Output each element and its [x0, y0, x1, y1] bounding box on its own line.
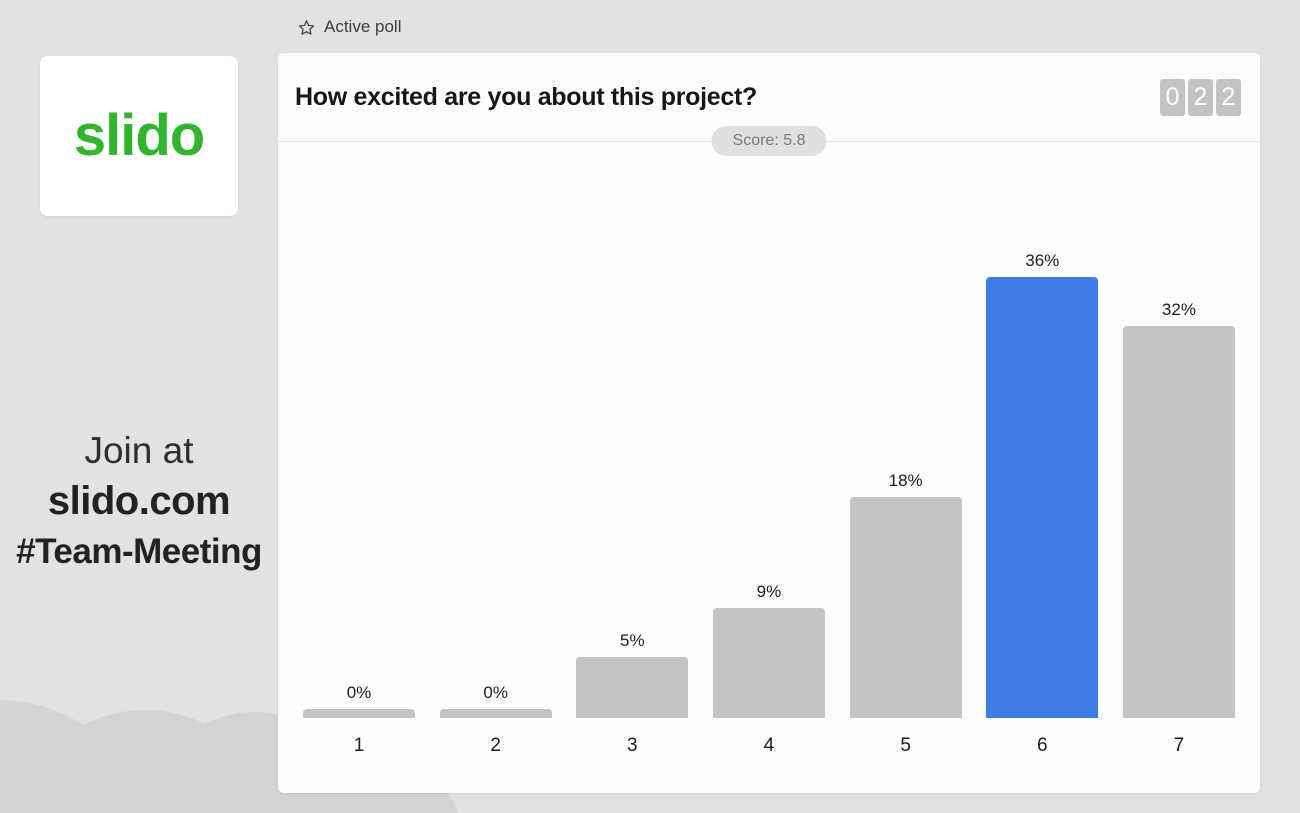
bar-rect: [576, 657, 688, 718]
bar-rect: [713, 608, 825, 718]
bar-column: 0%: [303, 252, 415, 718]
counter-digit: 2: [1188, 79, 1213, 116]
bar-column: 36%: [986, 252, 1098, 718]
x-axis-labels: 1 2 3 4 5 6 7: [303, 735, 1235, 757]
active-poll-status: Active poll: [298, 17, 401, 37]
bar-column: 5%: [576, 252, 688, 718]
bar-rect: [850, 497, 962, 718]
slido-logo-text: slido: [74, 107, 204, 165]
bar-value-label: 18%: [889, 472, 923, 489]
join-domain-label: slido.com: [0, 474, 278, 528]
star-outline-icon: [298, 19, 315, 36]
counter-digit: 2: [1216, 79, 1241, 116]
poll-chart: 0% 0% 5% 9% 18% 36%: [278, 142, 1260, 793]
sidebar: slido Join at slido.com #Team-Meeting: [0, 0, 278, 813]
join-prefix-label: Join at: [0, 428, 278, 474]
x-axis-tick: 6: [986, 735, 1098, 757]
x-axis-tick: 4: [713, 735, 825, 757]
x-axis-tick: 2: [440, 735, 552, 757]
join-instructions: Join at slido.com #Team-Meeting: [0, 428, 278, 576]
poll-title: How excited are you about this project?: [295, 83, 757, 112]
bar-value-label: 32%: [1162, 301, 1196, 318]
x-axis-tick: 3: [576, 735, 688, 757]
bar-column: 18%: [850, 252, 962, 718]
poll-card: How excited are you about this project? …: [278, 53, 1260, 793]
x-axis-tick: 7: [1123, 735, 1235, 757]
bar-column: 0%: [440, 252, 552, 718]
bar-value-label: 36%: [1025, 252, 1059, 269]
x-axis-tick: 1: [303, 735, 415, 757]
bar-value-label: 0%: [347, 684, 372, 701]
bar-rect: [303, 709, 415, 718]
bar-value-label: 0%: [483, 684, 508, 701]
bar-column: 9%: [713, 252, 825, 718]
counter-digit: 0: [1160, 79, 1185, 116]
slido-logo-card: slido: [40, 56, 238, 216]
bar-column: 32%: [1123, 252, 1235, 718]
x-axis-tick: 5: [850, 735, 962, 757]
bar-value-label: 9%: [757, 583, 782, 600]
vote-counter: 0 2 2: [1160, 79, 1241, 116]
bar-rect: [1123, 326, 1235, 718]
bar-rect: [440, 709, 552, 718]
bar-group: 0% 0% 5% 9% 18% 36%: [303, 252, 1235, 718]
bar-value-label: 5%: [620, 632, 645, 649]
bar-rect: [986, 277, 1098, 718]
active-poll-label: Active poll: [324, 17, 401, 37]
event-code-label: #Team-Meeting: [0, 528, 278, 575]
